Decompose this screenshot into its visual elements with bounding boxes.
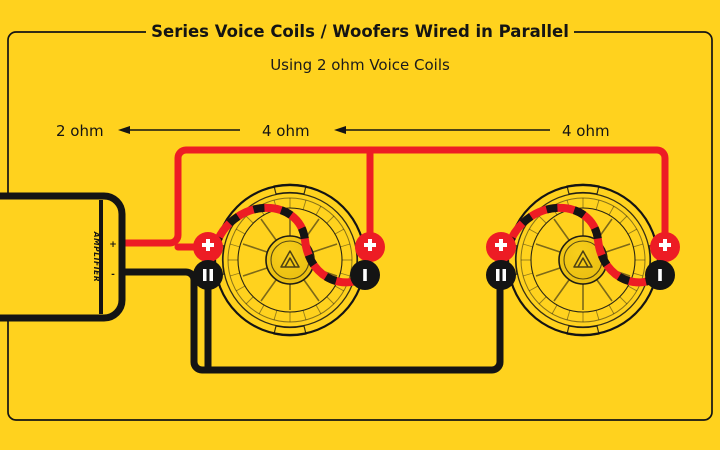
amplifier-negative-sign: - bbox=[111, 270, 115, 280]
woofer-left-terminal-coil-b-positive[interactable] bbox=[355, 232, 385, 262]
page-subtitle: Using 2 ohm Voice Coils bbox=[270, 56, 450, 74]
woofer-right-terminal-coil-a-negative[interactable] bbox=[486, 260, 516, 290]
impedance-label-amp: 2 ohm bbox=[56, 122, 104, 140]
wiring-diagram: Series Voice Coils / Woofers Wired in Pa… bbox=[0, 0, 720, 450]
amplifier-positive-sign: + bbox=[109, 240, 117, 250]
woofer-left-terminal-coil-a-positive[interactable] bbox=[193, 232, 223, 262]
woofer-right-terminal-coil-b-positive[interactable] bbox=[650, 232, 680, 262]
page-title: Series Voice Coils / Woofers Wired in Pa… bbox=[151, 22, 569, 41]
woofer-right-terminal-coil-b-negative[interactable] bbox=[645, 260, 675, 290]
amplifier-body bbox=[0, 196, 122, 318]
impedance-label-woofer-right: 4 ohm bbox=[562, 122, 610, 140]
impedance-label-woofer-left: 4 ohm bbox=[262, 122, 310, 140]
woofer-left-terminal-coil-b-negative[interactable] bbox=[350, 260, 380, 290]
woofer-left-terminal-coil-a-negative[interactable] bbox=[193, 260, 223, 290]
woofer-right-terminal-coil-a-positive[interactable] bbox=[486, 232, 516, 262]
amplifier[interactable]: AMPLIFIER + - bbox=[0, 196, 122, 318]
amplifier-label: AMPLIFIER bbox=[92, 231, 101, 283]
